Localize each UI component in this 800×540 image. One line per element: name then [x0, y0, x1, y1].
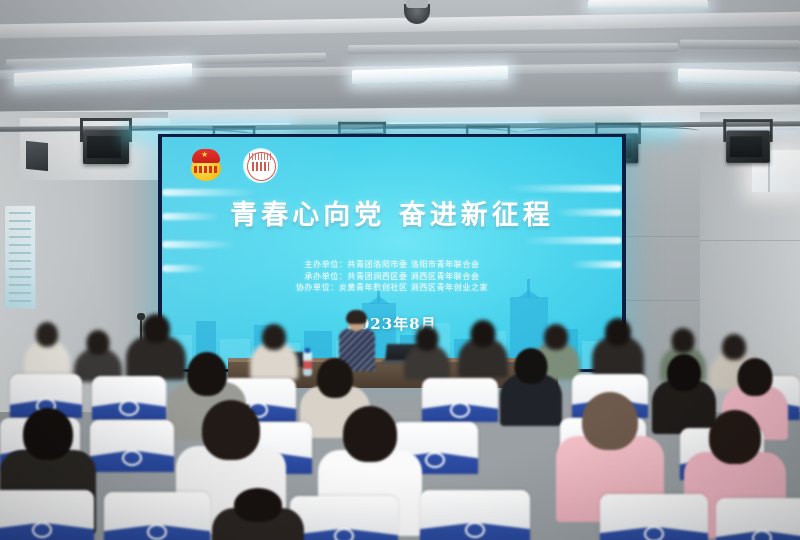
- wall-seam: [700, 240, 800, 241]
- wall-speaker: [26, 141, 48, 171]
- conference-hall-photo: ★ 青春心向党 奋进新征程 主办单位：共青团洛阳市委 洛阳市青年联合会 承办单位…: [0, 0, 800, 540]
- audience-area: [0, 300, 800, 540]
- organizer-line-coorganizer: 协办单位：炎黄青年数创社区 涧西区青年创业之家: [162, 282, 622, 294]
- slide-title: 青春心向党 奋进新征程: [162, 193, 622, 232]
- chair: [104, 492, 210, 540]
- chair: [290, 496, 398, 540]
- communist-youth-league-emblem: ★: [189, 149, 223, 182]
- chair: [90, 420, 174, 472]
- chair: [600, 494, 708, 540]
- chair: [716, 498, 800, 540]
- slide-organizers: 主办单位：共青团洛阳市委 洛阳市青年联合会 承办单位：共青团涧西区委 涧西区青年…: [162, 259, 622, 294]
- chair: [0, 490, 94, 540]
- organizer-line-undertaker: 承办单位：共青团涧西区委 涧西区青年联合会: [162, 271, 622, 283]
- youth-federation-emblem: [244, 149, 277, 182]
- audience-person: [592, 318, 644, 378]
- audience-person: [212, 488, 304, 540]
- fluorescent-tube-light: [678, 69, 800, 86]
- organizer-line-host: 主办单位：共青团洛阳市委 洛阳市青年联合会: [162, 259, 622, 271]
- light-streak: [522, 237, 622, 244]
- chair: [422, 378, 498, 422]
- audience-person: [250, 324, 298, 380]
- fluorescent-tube-light: [588, 0, 708, 9]
- light-streak: [162, 241, 236, 248]
- chair: [420, 490, 530, 540]
- chair: [92, 376, 166, 420]
- stage-light: [723, 119, 772, 163]
- light-streak: [506, 185, 622, 192]
- wall-notice-board: [4, 205, 36, 309]
- audience-person: [24, 322, 70, 376]
- light-housing: [680, 40, 800, 50]
- audience-person: [74, 330, 122, 382]
- audience-person: [500, 348, 562, 426]
- audience-person: [404, 326, 450, 380]
